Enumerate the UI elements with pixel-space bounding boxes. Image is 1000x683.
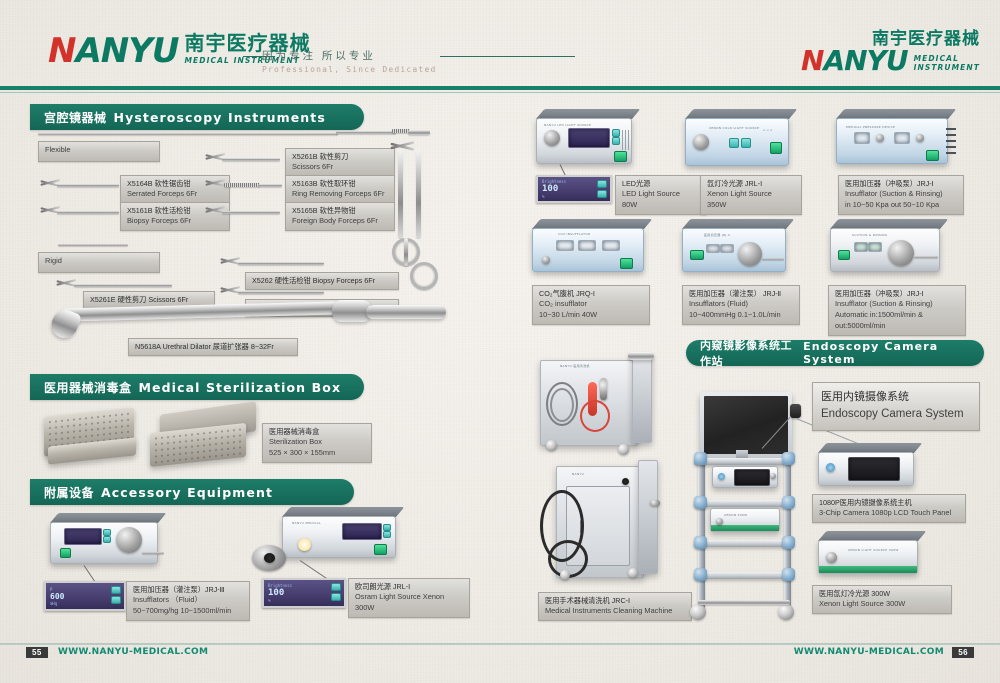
device-insufflator-fluid: [50, 522, 158, 564]
device-display-1: [854, 242, 868, 252]
device-tubing: [914, 256, 938, 258]
page-number-left: 55: [26, 647, 48, 658]
item-cn: CO₂气腹机 JRQ-Ⅰ: [539, 289, 643, 299]
item-cn: X5165B 软性异物钳: [292, 206, 388, 216]
cleaning-machine-tray: [628, 352, 654, 360]
item-label-x5261b: X5261B 软性剪刀 Scissors 6Fr: [285, 148, 395, 177]
item-spec: Automatic in:1500ml/min & out:5000ml/min: [835, 310, 959, 331]
sterilization-box-open-perforations: [153, 426, 243, 463]
section-header-sterilization: 医用器械消毒盒 Medical Sterilization Box: [30, 374, 364, 400]
item-cn: 医用加压器（灌注泵） JRJ-Ⅱ: [689, 289, 793, 299]
item-cn: 1080P医用内镜摄像系统主机: [819, 498, 959, 508]
cleaning-machine-lower-caster-1: [560, 570, 570, 580]
device-button-2[interactable]: [741, 138, 751, 148]
device-pump-rotor[interactable]: [888, 240, 914, 266]
device-power-button[interactable]: [374, 544, 387, 555]
tower-light-source-strip: [711, 525, 779, 531]
cleaning-machine-lower-port: [622, 478, 629, 485]
device-power-button[interactable]: [60, 548, 71, 558]
cart-joint-6: [782, 536, 795, 549]
tagline-en: Professional, Since Dedicated: [262, 65, 562, 74]
device-xenon-closeup-strip: [819, 566, 917, 573]
cleaning-machine-lower-caster-2: [628, 568, 638, 578]
instrument-shaft-foreign: [222, 211, 280, 214]
item-cn: 医用器械消毒盒: [269, 427, 365, 437]
device-button-1[interactable]: [103, 529, 111, 536]
device-vent: [622, 130, 630, 150]
rigid-scope-tip: [58, 244, 128, 246]
device-power-button[interactable]: [770, 142, 782, 154]
device-branding-text: NANYU MEDICAL: [292, 521, 321, 525]
tagline: 因为专注 所以专业 Professional, Since Dedicated: [262, 48, 562, 74]
camera-system-label-xenon: 医用氙灯冷光源 300W Xenon Light Source 300W: [812, 585, 952, 614]
device-branding-text: 医用加压器 JRJ-II: [704, 233, 730, 237]
group-label-rigid: Rigid: [38, 252, 160, 273]
device-display-1: [556, 240, 574, 251]
item-cn: 医用氙灯冷光源 300W: [819, 589, 945, 599]
readout-insufflator: P 600 mHg: [44, 581, 126, 611]
device-power-button[interactable]: [926, 150, 939, 161]
device-display-2: [894, 132, 910, 144]
item-cn: X5262 硬性活检钳 Biopsy Forceps 6Fr: [252, 276, 392, 286]
tower-monitor-screen: [704, 396, 788, 454]
item-spec: 350W: [707, 200, 795, 211]
instrument-jaw-rigid-1: [220, 256, 240, 266]
cleaning-machine-lower-side: [638, 460, 658, 574]
camera-system-label-main: 医用内镜摄像系统 Endoscopy Camera System: [812, 382, 980, 431]
cleaning-machine-valve[interactable]: [650, 500, 660, 506]
device-button-1[interactable]: [612, 129, 620, 137]
cleaning-hose-coil-red: [580, 400, 610, 432]
item-en: 3-Chip Camera 1080p LCD Touch Panel: [819, 508, 959, 519]
item-cn: X5261E 硬性剪刀 Scissors 6Fr: [90, 295, 208, 305]
device-insufflator-suction-2: SUCTION & RINSING: [830, 228, 940, 272]
item-spec: 50~700mg/hg 10~1500ml/min: [133, 606, 243, 617]
flexible-scope-shaft-2: [336, 131, 396, 134]
instrument-shaft-rigid-2: [74, 284, 172, 287]
cleaning-machine-lower-brand: NANYU: [572, 472, 584, 476]
footer-url-left[interactable]: WWW.NANYU-MEDICAL.COM: [58, 647, 208, 657]
readout-btn-down[interactable]: [331, 593, 341, 601]
device-tubing: [142, 552, 164, 554]
device-branding-text: XENON COLD LIGHT SOURCE: [709, 126, 759, 130]
device-button-2[interactable]: [103, 536, 111, 543]
readout-unit: %: [268, 598, 292, 603]
cleaning-machine-caster-2: [618, 444, 629, 455]
readout-unit: %: [542, 194, 566, 199]
section-title-en: Endoscopy Camera System: [803, 340, 964, 366]
instrument-jaw-rigid-2: [56, 278, 76, 288]
forceps-arm-right: [416, 150, 421, 238]
device-co2-insufflator: CO2 INSUFFLATOR: [532, 228, 644, 272]
device-button-1[interactable]: [729, 138, 739, 148]
accessory-label-insufflator: 医用加压器（灌注泵）JRJ-Ⅲ Insufflators （Fluid） 50~…: [126, 581, 250, 621]
item-en: Xenon Light Source 300W: [819, 599, 945, 610]
device-knob-2[interactable]: [916, 134, 924, 142]
item-en: Medical Instruments Cleaning Machine: [545, 606, 685, 617]
readout-led: Brightness 100 %: [536, 175, 612, 203]
device-branding-text: CO2 INSUFFLATOR: [558, 232, 590, 236]
device-light-port: [693, 134, 709, 150]
cart-post-right: [784, 456, 791, 610]
footer-url-right[interactable]: WWW.NANYU-MEDICAL.COM: [794, 647, 944, 657]
cleaning-machine-brand-text: NANYU 医用清洗机: [560, 364, 590, 368]
device-branding-text: SUCTION & RINSING: [852, 233, 887, 237]
item-cn: 氙灯冷光源 JRL-Ⅰ: [707, 179, 795, 189]
device-tubing: [762, 258, 784, 260]
logo-right: 南宇医疗器械 NANYU MEDICAL INSTRUMENT: [801, 30, 980, 75]
cart-caster-right: [778, 604, 794, 620]
readout-light-source: Brightness 100 %: [262, 578, 346, 608]
device-display-2: [720, 244, 734, 253]
cart-joint-7: [694, 568, 707, 581]
instrument-shaft-serrated: [57, 184, 119, 187]
item-en: Sterilization Box: [269, 437, 365, 448]
device-insufflator-fluid-2: 医用加压器 JRJ-II: [682, 228, 786, 272]
device-display-1: [854, 132, 870, 144]
device-xenon-closeup-port: [826, 552, 837, 563]
item-en: CO₂ insufflator: [539, 299, 643, 310]
device-branding-text: MEDICAL PRESSURE DEVICE: [846, 125, 895, 129]
item-cn: 欧司朗光源 JRL-Ⅰ: [355, 582, 463, 592]
right-label-insufflator-1: 医用加压器（冲吸泵）JRJ-Ⅰ Insufflator (Suction & R…: [838, 175, 964, 215]
cart-joint-5: [694, 536, 707, 549]
device-led-light-source: NANYU LED LIGHT SOURCE: [536, 118, 632, 164]
item-en: Foreign Body Forceps 6Fr: [292, 216, 388, 227]
device-display-2: [868, 242, 882, 252]
device-power-button[interactable]: [838, 250, 850, 260]
item-en: Serrated Forceps 6Fr: [127, 189, 223, 200]
device-xenon-closeup-text: XENON LIGHT SOURCE 300W: [848, 548, 899, 552]
cart-base-bar: [698, 600, 790, 605]
cart-joint-8: [782, 568, 795, 581]
brand-subtitle-line1: MEDICAL: [914, 54, 980, 63]
item-en: Biopsy Forceps 6Fr: [127, 216, 223, 227]
urethral-dilator-handle: [366, 305, 446, 319]
tower-ccu-screen: [734, 469, 770, 486]
page-footer: 55 WWW.NANYU-MEDICAL.COM WWW.NANYU-MEDIC…: [0, 643, 1000, 661]
section-title-en: Hysteroscopy Instruments: [114, 110, 326, 125]
cart-joint-1: [694, 452, 707, 465]
tower-ccu-indicator: [718, 473, 725, 480]
brand-wordmark-right: NANYU: [801, 47, 908, 75]
item-label-x5262: X5262 硬性活检钳 Biopsy Forceps 6Fr: [245, 272, 399, 290]
section-title-cn: 附属设备: [44, 484, 94, 501]
cleaning-machine-upper-side: [632, 355, 652, 443]
item-spec: in 10~50 Kpa out 50~10 Kpa: [845, 200, 957, 211]
right-label-led: LED光源 LED Light Source 80W: [615, 175, 707, 215]
readout-btn-up[interactable]: [331, 583, 341, 591]
readout-btn-down[interactable]: [111, 596, 121, 604]
instrument-shaft-ring: [258, 184, 282, 187]
cart-caster-left: [690, 604, 706, 620]
item-label-x5165b: X5165B 软性异物钳 Foreign Body Forceps 6Fr: [285, 202, 395, 231]
group-label-flexible-text: Flexible: [45, 145, 153, 156]
tagline-rule-right: [440, 56, 575, 57]
brand-subtitle-line2: INSTRUMENT: [914, 63, 980, 72]
group-label-flexible: Flexible: [38, 141, 160, 162]
item-spec: 525 × 300 × 155mm: [269, 448, 365, 459]
item-spec: 10~400mmHg 0.1~1.0L/min: [689, 310, 793, 321]
device-power-button[interactable]: [614, 151, 627, 162]
item-cn: 医用加压器（灌注泵）JRJ-Ⅲ: [133, 585, 243, 595]
right-label-insufflator-fluid: 医用加压器（灌注泵） JRJ-Ⅱ Insufflators (Fluid) 10…: [682, 285, 800, 325]
device-vent: [946, 126, 956, 154]
device-button-1[interactable]: [383, 524, 391, 531]
device-ccu-touch-panel[interactable]: [848, 457, 900, 481]
device-screen: [342, 523, 382, 540]
tower-monitor-stand: [736, 450, 748, 458]
item-cn: 医用加压器（冲吸泵）JRJ-Ⅰ: [835, 289, 959, 299]
item-en: LED Light Source: [622, 189, 700, 200]
item-cn: 医用加压器（冲吸泵）JRJ-Ⅰ: [845, 179, 957, 189]
accessory-label-light-source: 欧司朗光源 JRL-Ⅰ Osram Light Source Xenon 300…: [348, 578, 470, 618]
readout-btn-down[interactable]: [597, 190, 607, 198]
tower-ccu-knob[interactable]: [770, 473, 776, 479]
cart-post-left: [698, 456, 705, 610]
device-display-1: [706, 244, 720, 253]
cleaning-machine-label: 医用手术器械清洗机 JRC-Ⅰ Medical Instruments Clea…: [538, 592, 692, 621]
device-gas-port: [542, 256, 550, 264]
right-label-insufflator-suction-2: 医用加压器（冲吸泵）JRJ-Ⅰ Insufflator (Suction & R…: [828, 285, 966, 336]
device-ccu-indicator: [826, 463, 835, 472]
item-en: Ring Removing Forceps 6Fr: [292, 189, 388, 200]
item-en: Xenon Light Source: [707, 189, 795, 200]
device-display-3: [602, 240, 620, 251]
device-knob[interactable]: [544, 130, 560, 146]
instrument-jaw-rigid-3: [220, 285, 240, 295]
tower-light-source-text: XENON 300W: [724, 513, 747, 517]
section-title-cn: 医用器械消毒盒: [44, 379, 132, 396]
item-en: Scissors 6Fr: [292, 162, 388, 173]
readout-value: 100: [268, 588, 292, 598]
device-knob-1[interactable]: [876, 134, 884, 142]
device-light-port: [298, 538, 311, 551]
right-label-xenon: 氙灯冷光源 JRL-Ⅰ Xenon Light Source 350W: [700, 175, 802, 215]
device-osram-light-source: NANYU MEDICAL: [282, 516, 396, 558]
item-spec: 10~30 L/min 40W: [539, 310, 643, 321]
device-panel-labels: ▫ ▫ ▫: [763, 128, 773, 132]
tower-light-source: XENON 300W: [710, 508, 780, 532]
flexible-scope-body: [408, 130, 430, 135]
cleaning-hose-coil-gray-2: [550, 388, 574, 422]
item-cn: X5163B 软性取环钳: [292, 179, 388, 189]
item-en: Osram Light Source Xenon: [355, 592, 463, 603]
forceps-link: [404, 238, 408, 266]
item-cn: 医用内镜摄像系统: [821, 390, 971, 406]
item-cn: X5261B 软性剪刀: [292, 152, 388, 162]
device-button-2[interactable]: [612, 137, 620, 145]
header-rule-green: [0, 86, 1000, 90]
flexible-scope-shaft: [38, 133, 338, 135]
instrument-shaft-scissors: [222, 158, 280, 161]
device-screen: [64, 528, 102, 545]
item-en: Insufflators (Fluid): [689, 299, 793, 310]
item-en: Insufflators （Fluid）: [133, 595, 243, 606]
instrument-knurl-ring: [224, 183, 260, 187]
device-power-button[interactable]: [620, 258, 633, 269]
section-title-cn: 宫腔镜器械: [44, 109, 107, 126]
cart-shelf-1: [694, 458, 790, 465]
device-branding-text: NANYU LED LIGHT SOURCE: [544, 123, 591, 127]
header-rule-thin: [0, 92, 1000, 93]
cart-shelf-3: [694, 540, 790, 547]
item-spec: 80W: [622, 200, 700, 211]
sterilization-box-label: 医用器械消毒盒 Sterilization Box 525 × 300 × 15…: [262, 423, 372, 463]
page-number-right: 56: [952, 647, 974, 658]
forceps-jaw-large: [390, 140, 414, 152]
cleaning-machine-caster-1: [546, 440, 557, 451]
right-label-co2: CO₂气腹机 JRQ-Ⅰ CO₂ insufflator 10~30 L/min…: [532, 285, 650, 325]
item-label-x5163b: X5163B 软性取环钳 Ring Removing Forceps 6Fr: [285, 175, 395, 204]
readout-value: 600: [50, 592, 64, 601]
brand-wordmark: NANYU: [48, 34, 178, 68]
cart-shelf-2: [694, 500, 790, 507]
page-header: NANYU 南宇医疗器械 MEDICAL INSTRUMENT 因为专注 所以专…: [0, 30, 1000, 88]
readout-unit: mHg: [50, 601, 64, 606]
device-button-2[interactable]: [383, 531, 391, 538]
device-screen: [568, 128, 610, 148]
readout-value: 100: [542, 184, 566, 194]
device-xenon-light-source: XENON COLD LIGHT SOURCE ▫ ▫ ▫: [685, 118, 789, 166]
tower-monitor: [700, 392, 792, 458]
item-spec: 300W: [355, 603, 463, 614]
section-title-en: Accessory Equipment: [101, 485, 273, 500]
cleaning-spray-gun: [600, 378, 607, 400]
readout-btn-up[interactable]: [111, 586, 121, 594]
device-display-2: [578, 240, 596, 251]
forceps-arm-left: [398, 150, 403, 238]
item-en: Insufflator (Suction & Rinsing): [835, 299, 959, 310]
device-pump-rotor[interactable]: [738, 242, 762, 266]
section-header-accessory: 附属设备 Accessory Equipment: [30, 479, 354, 505]
item-en: Endoscopy Camera System: [821, 406, 971, 423]
item-label-n5618a: N5618A Urethral Dilator 尿道扩张器 8~32Fr: [128, 338, 298, 356]
readout-btn-up[interactable]: [597, 180, 607, 188]
forceps-ring-handle-right: [410, 262, 438, 290]
cart-joint-3: [694, 496, 707, 509]
light-guide-center: [264, 553, 275, 563]
item-en: Insufflator (Suction & Rinsing): [845, 189, 957, 200]
cart-shelf-4: [694, 572, 790, 579]
instrument-shaft-biopsy: [57, 211, 119, 214]
cart-joint-4: [782, 496, 795, 509]
device-insufflator-suction-1: MEDICAL PRESSURE DEVICE: [836, 118, 948, 164]
tower-light-source-port: [716, 518, 723, 525]
tower-camera-control-unit: [712, 466, 778, 488]
section-title-cn: 内窥镜影像系统工作站: [700, 337, 796, 369]
section-header-hysteroscopy: 宫腔镜器械 Hysteroscopy Instruments: [30, 104, 364, 130]
instrument-shaft-rigid-1: [238, 262, 324, 265]
device-xenon-closeup: XENON LIGHT SOURCE 300W: [818, 540, 918, 574]
footer-rule: [0, 643, 1000, 645]
device-pump-rotor[interactable]: [116, 527, 142, 553]
cart-joint-2: [782, 452, 795, 465]
section-title-en: Medical Sterilization Box: [139, 380, 342, 395]
item-cn: 医用手术器械清洗机 JRC-Ⅰ: [545, 596, 685, 606]
instrument-jaw-ring: [205, 178, 225, 188]
device-power-button[interactable]: [690, 250, 704, 260]
section-header-camera-system: 内窥镜影像系统工作站 Endoscopy Camera System: [686, 340, 984, 366]
camera-head: [790, 404, 801, 418]
group-label-rigid-text: Rigid: [45, 256, 153, 267]
catalog-spread: NANYU 南宇医疗器械 MEDICAL INSTRUMENT 因为专注 所以专…: [0, 0, 1000, 683]
instrument-shaft-rigid-3: [238, 291, 324, 294]
device-ccu-closeup: [818, 452, 914, 486]
item-cn: N5618A Urethral Dilator 尿道扩张器 8~32Fr: [135, 342, 291, 352]
camera-system-label-ccu: 1080P医用内镜摄像系统主机 3-Chip Camera 1080p LCD …: [812, 494, 966, 523]
item-cn: LED光源: [622, 179, 700, 189]
